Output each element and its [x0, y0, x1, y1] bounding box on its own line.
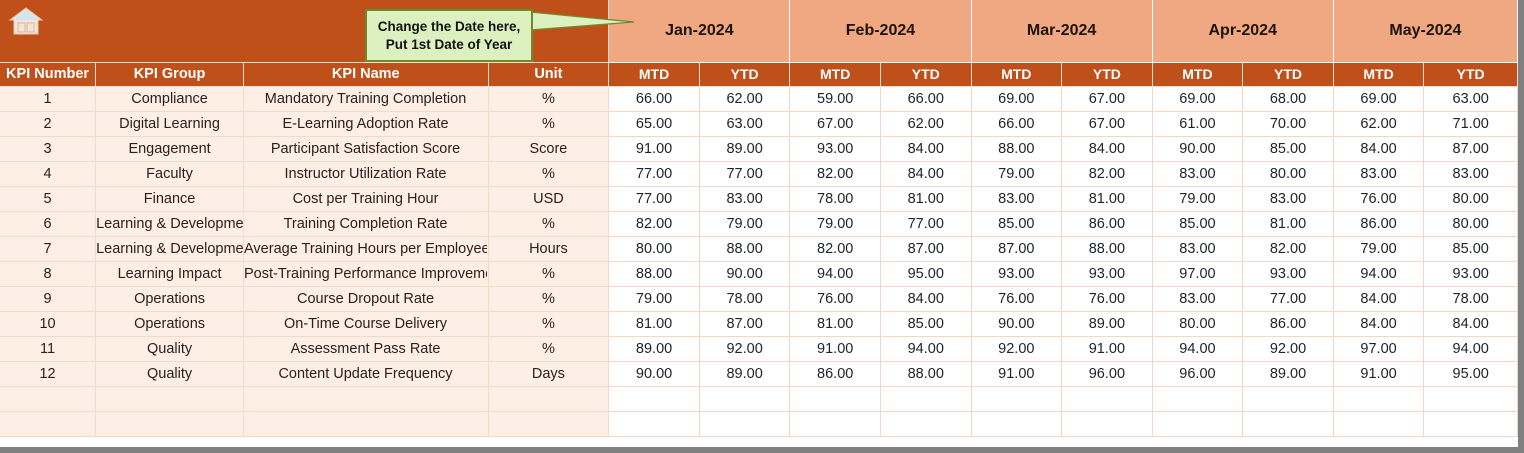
empty-cell[interactable] [488, 386, 609, 411]
cell-unit[interactable]: % [488, 86, 609, 111]
cell-kpi-group[interactable]: Compliance [96, 86, 244, 111]
cell-apr-mtd[interactable]: 97.00 [1152, 261, 1243, 286]
cell-jan-ytd[interactable]: 63.00 [699, 111, 790, 136]
cell-unit[interactable]: % [488, 336, 609, 361]
cell-jan-mtd[interactable]: 77.00 [609, 186, 700, 211]
cell-unit[interactable]: % [488, 261, 609, 286]
cell-feb-ytd[interactable]: 62.00 [880, 111, 971, 136]
cell-mar-ytd[interactable]: 86.00 [1062, 211, 1153, 236]
cell-jan-ytd[interactable]: 77.00 [699, 161, 790, 186]
cell-mar-ytd[interactable]: 67.00 [1062, 86, 1153, 111]
cell-feb-ytd[interactable]: 84.00 [880, 161, 971, 186]
empty-cell[interactable] [699, 411, 790, 436]
cell-text: Participant Satisfaction Score [244, 141, 487, 157]
cell-apr-ytd[interactable]: 89.00 [1243, 361, 1334, 386]
cell-feb-ytd[interactable]: 84.00 [880, 286, 971, 311]
cell-apr-mtd[interactable]: 96.00 [1152, 361, 1243, 386]
cell-mar-mtd[interactable]: 66.00 [971, 111, 1062, 136]
empty-cell[interactable] [880, 386, 971, 411]
cell-kpi-number[interactable]: 9 [0, 286, 96, 311]
cell-kpi-name[interactable]: Cost per Training Hour [244, 186, 489, 211]
cell-apr-mtd[interactable]: 79.00 [1152, 186, 1243, 211]
cell-feb-mtd[interactable]: 76.00 [790, 286, 881, 311]
cell-apr-ytd[interactable]: 80.00 [1243, 161, 1334, 186]
cell-feb-mtd[interactable]: 94.00 [790, 261, 881, 286]
cell-may-mtd[interactable]: 84.00 [1333, 311, 1424, 336]
cell-may-mtd[interactable]: 76.00 [1333, 186, 1424, 211]
cell-jan-ytd[interactable]: 83.00 [699, 186, 790, 211]
month-header-may[interactable]: May-2024 [1333, 0, 1517, 62]
cell-kpi-group[interactable]: Engagement [96, 136, 244, 161]
cell-feb-ytd[interactable]: 95.00 [880, 261, 971, 286]
cell-unit[interactable]: % [488, 161, 609, 186]
month-header-jan[interactable]: Jan-2024 [609, 0, 790, 62]
empty-cell[interactable] [971, 411, 1062, 436]
empty-cell[interactable] [1062, 386, 1153, 411]
cell-may-ytd[interactable]: 63.00 [1424, 86, 1518, 111]
table-row: 3EngagementParticipant Satisfaction Scor… [0, 136, 1518, 161]
empty-cell[interactable] [1333, 386, 1424, 411]
cell-may-mtd[interactable]: 79.00 [1333, 236, 1424, 261]
cell-jan-mtd[interactable]: 82.00 [609, 211, 700, 236]
cell-jan-ytd[interactable]: 89.00 [699, 361, 790, 386]
kpi-table: Jan-2024 Feb-2024 Mar-2024 Apr-2024 May-… [0, 0, 1518, 437]
cell-kpi-number[interactable]: 1 [0, 86, 96, 111]
cell-kpi-group[interactable]: Learning & Development [96, 236, 244, 261]
empty-cell[interactable] [1243, 411, 1334, 436]
cell-text: E-Learning Adoption Rate [244, 116, 487, 132]
table-row: 8Learning ImpactPost-Training Performanc… [0, 261, 1518, 286]
cell-kpi-name[interactable]: Mandatory Training Completion [244, 86, 489, 111]
empty-cell[interactable] [699, 386, 790, 411]
cell-mar-mtd[interactable]: 76.00 [971, 286, 1062, 311]
empty-cell[interactable] [609, 411, 700, 436]
cell-jan-ytd[interactable]: 87.00 [699, 311, 790, 336]
empty-cell[interactable] [0, 411, 96, 436]
cell-apr-ytd[interactable]: 93.00 [1243, 261, 1334, 286]
cell-text: On-Time Course Delivery [244, 316, 487, 332]
empty-cell[interactable] [96, 411, 244, 436]
cell-mar-mtd[interactable]: 69.00 [971, 86, 1062, 111]
cell-jan-ytd[interactable]: 90.00 [699, 261, 790, 286]
cell-may-ytd[interactable]: 93.00 [1424, 261, 1518, 286]
col-header-unit[interactable]: Unit [488, 62, 609, 86]
cell-may-mtd[interactable]: 86.00 [1333, 211, 1424, 236]
cell-feb-ytd[interactable]: 85.00 [880, 311, 971, 336]
table-row: 11QualityAssessment Pass Rate%89.0092.00… [0, 336, 1518, 361]
cell-jan-ytd[interactable]: 88.00 [699, 236, 790, 261]
cell-may-ytd[interactable]: 95.00 [1424, 361, 1518, 386]
empty-cell[interactable] [880, 411, 971, 436]
month-header-mar[interactable]: Mar-2024 [971, 0, 1152, 62]
cell-apr-mtd[interactable]: 90.00 [1152, 136, 1243, 161]
empty-cell[interactable] [1333, 411, 1424, 436]
cell-kpi-group[interactable]: Learning Impact [96, 261, 244, 286]
cell-mar-ytd[interactable]: 67.00 [1062, 111, 1153, 136]
cell-mar-ytd[interactable]: 91.00 [1062, 336, 1153, 361]
cell-feb-ytd[interactable]: 66.00 [880, 86, 971, 111]
cell-jan-mtd[interactable]: 66.00 [609, 86, 700, 111]
cell-mar-mtd[interactable]: 90.00 [971, 311, 1062, 336]
cell-may-ytd[interactable]: 94.00 [1424, 336, 1518, 361]
cell-text: Cost per Training Hour [244, 191, 487, 207]
cell-kpi-number[interactable]: 12 [0, 361, 96, 386]
cell-mar-ytd[interactable]: 96.00 [1062, 361, 1153, 386]
cell-apr-ytd[interactable]: 83.00 [1243, 186, 1334, 211]
cell-unit[interactable]: Hours [488, 236, 609, 261]
cell-kpi-group[interactable]: Digital Learning [96, 111, 244, 136]
cell-feb-ytd[interactable]: 94.00 [880, 336, 971, 361]
cell-kpi-number[interactable]: 5 [0, 186, 96, 211]
empty-cell[interactable] [1152, 386, 1243, 411]
callout-line-1: Change the Date here, [367, 18, 531, 36]
empty-cell[interactable] [790, 386, 881, 411]
cell-kpi-group[interactable]: Operations [96, 286, 244, 311]
cell-feb-mtd[interactable]: 86.00 [790, 361, 881, 386]
cell-jan-mtd[interactable]: 91.00 [609, 136, 700, 161]
empty-row [0, 411, 1518, 436]
cell-mar-mtd[interactable]: 85.00 [971, 211, 1062, 236]
cell-mar-mtd[interactable]: 92.00 [971, 336, 1062, 361]
month-header-apr[interactable]: Apr-2024 [1152, 0, 1333, 62]
date-instruction-callout: Change the Date here, Put 1st Date of Ye… [365, 9, 533, 62]
cell-kpi-name[interactable]: E-Learning Adoption Rate [244, 111, 489, 136]
column-header-row: KPI Number KPI Group KPI Name Unit MTD Y… [0, 62, 1518, 86]
cell-text: Training Completion Rate [244, 216, 487, 232]
empty-cell[interactable] [971, 386, 1062, 411]
cell-kpi-group[interactable]: Faculty [96, 161, 244, 186]
cell-jan-mtd[interactable]: 80.00 [609, 236, 700, 261]
table-row: 7Learning & DevelopmentAverage Training … [0, 236, 1518, 261]
empty-cell[interactable] [488, 411, 609, 436]
home-icon[interactable] [8, 5, 44, 37]
month-header-feb[interactable]: Feb-2024 [790, 0, 971, 62]
cell-mar-ytd[interactable]: 89.00 [1062, 311, 1153, 336]
cell-mar-ytd[interactable]: 88.00 [1062, 236, 1153, 261]
cell-kpi-group[interactable]: Finance [96, 186, 244, 211]
cell-jan-ytd[interactable]: 78.00 [699, 286, 790, 311]
cell-feb-mtd[interactable]: 81.00 [790, 311, 881, 336]
col-header-jan-ytd[interactable]: YTD [699, 62, 790, 86]
cell-feb-ytd[interactable]: 87.00 [880, 236, 971, 261]
cell-mar-ytd[interactable]: 93.00 [1062, 261, 1153, 286]
table-row: 12QualityContent Update FrequencyDays90.… [0, 361, 1518, 386]
cell-mar-ytd[interactable]: 81.00 [1062, 186, 1153, 211]
cell-mar-mtd[interactable]: 87.00 [971, 236, 1062, 261]
cell-kpi-number[interactable]: 11 [0, 336, 96, 361]
cell-mar-ytd[interactable]: 84.00 [1062, 136, 1153, 161]
cell-kpi-number[interactable]: 10 [0, 311, 96, 336]
cell-feb-mtd[interactable]: 93.00 [790, 136, 881, 161]
cell-may-mtd[interactable]: 69.00 [1333, 86, 1424, 111]
cell-unit[interactable]: USD [488, 186, 609, 211]
cell-mar-mtd[interactable]: 88.00 [971, 136, 1062, 161]
cell-apr-mtd[interactable]: 83.00 [1152, 236, 1243, 261]
empty-cell[interactable] [1424, 411, 1518, 436]
cell-unit[interactable]: % [488, 111, 609, 136]
cell-feb-mtd[interactable]: 79.00 [790, 211, 881, 236]
cell-jan-ytd[interactable]: 89.00 [699, 136, 790, 161]
cell-kpi-group[interactable]: Learning & Development [96, 211, 244, 236]
table-row: 9OperationsCourse Dropout Rate%79.0078.0… [0, 286, 1518, 311]
cell-apr-mtd[interactable]: 85.00 [1152, 211, 1243, 236]
col-header-apr-ytd[interactable]: YTD [1243, 62, 1334, 86]
col-header-kpi-number[interactable]: KPI Number [0, 62, 96, 86]
empty-row [0, 386, 1518, 411]
cell-may-ytd[interactable]: 80.00 [1424, 186, 1518, 211]
cell-may-ytd[interactable]: 78.00 [1424, 286, 1518, 311]
cell-apr-mtd[interactable]: 94.00 [1152, 336, 1243, 361]
cell-text: Mandatory Training Completion [244, 91, 487, 107]
cell-apr-mtd[interactable]: 80.00 [1152, 311, 1243, 336]
cell-apr-mtd[interactable]: 83.00 [1152, 286, 1243, 311]
cell-may-ytd[interactable]: 83.00 [1424, 161, 1518, 186]
cell-apr-ytd[interactable]: 86.00 [1243, 311, 1334, 336]
cell-unit[interactable]: Days [488, 361, 609, 386]
cell-kpi-name[interactable]: Assessment Pass Rate [244, 336, 489, 361]
cell-jan-mtd[interactable]: 79.00 [609, 286, 700, 311]
col-header-mar-mtd[interactable]: MTD [971, 62, 1062, 86]
table-row: 5FinanceCost per Training HourUSD77.0083… [0, 186, 1518, 211]
col-header-kpi-name[interactable]: KPI Name [244, 62, 489, 86]
table-row: 6Learning & DevelopmentTraining Completi… [0, 211, 1518, 236]
cell-may-ytd[interactable]: 87.00 [1424, 136, 1518, 161]
cell-jan-mtd[interactable]: 90.00 [609, 361, 700, 386]
cell-apr-ytd[interactable]: 68.00 [1243, 86, 1334, 111]
empty-cell[interactable] [96, 386, 244, 411]
cell-may-ytd[interactable]: 71.00 [1424, 111, 1518, 136]
cell-apr-mtd[interactable]: 61.00 [1152, 111, 1243, 136]
empty-cell[interactable] [790, 411, 881, 436]
cell-mar-mtd[interactable]: 93.00 [971, 261, 1062, 286]
cell-mar-mtd[interactable]: 91.00 [971, 361, 1062, 386]
kpi-table-body: 1ComplianceMandatory Training Completion… [0, 86, 1518, 436]
cell-feb-mtd[interactable]: 82.00 [790, 236, 881, 261]
cell-jan-mtd[interactable]: 81.00 [609, 311, 700, 336]
cell-mar-ytd[interactable]: 82.00 [1062, 161, 1153, 186]
empty-cell[interactable] [244, 386, 489, 411]
cell-jan-ytd[interactable]: 79.00 [699, 211, 790, 236]
cell-apr-ytd[interactable]: 70.00 [1243, 111, 1334, 136]
cell-apr-ytd[interactable]: 81.00 [1243, 211, 1334, 236]
cell-may-mtd[interactable]: 83.00 [1333, 161, 1424, 186]
cell-unit[interactable]: % [488, 211, 609, 236]
cell-may-ytd[interactable]: 84.00 [1424, 311, 1518, 336]
cell-feb-ytd[interactable]: 88.00 [880, 361, 971, 386]
cell-feb-ytd[interactable]: 81.00 [880, 186, 971, 211]
cell-kpi-number[interactable]: 8 [0, 261, 96, 286]
cell-apr-ytd[interactable]: 77.00 [1243, 286, 1334, 311]
cell-mar-mtd[interactable]: 79.00 [971, 161, 1062, 186]
col-header-may-ytd[interactable]: YTD [1424, 62, 1518, 86]
cell-kpi-number[interactable]: 3 [0, 136, 96, 161]
cell-apr-ytd[interactable]: 85.00 [1243, 136, 1334, 161]
cell-unit[interactable]: % [488, 286, 609, 311]
col-header-apr-mtd[interactable]: MTD [1152, 62, 1243, 86]
cell-kpi-number[interactable]: 4 [0, 161, 96, 186]
cell-kpi-name[interactable]: Training Completion Rate [244, 211, 489, 236]
cell-feb-mtd[interactable]: 78.00 [790, 186, 881, 211]
cell-mar-mtd[interactable]: 83.00 [971, 186, 1062, 211]
cell-jan-ytd[interactable]: 62.00 [699, 86, 790, 111]
cell-may-mtd[interactable]: 94.00 [1333, 261, 1424, 286]
cell-kpi-name[interactable]: Course Dropout Rate [244, 286, 489, 311]
empty-cell[interactable] [609, 386, 700, 411]
cell-kpi-name[interactable]: Post-Training Performance Improvement [244, 261, 489, 286]
col-header-may-mtd[interactable]: MTD [1333, 62, 1424, 86]
col-header-mar-ytd[interactable]: YTD [1062, 62, 1153, 86]
col-header-feb-ytd[interactable]: YTD [880, 62, 971, 86]
table-row: 1ComplianceMandatory Training Completion… [0, 86, 1518, 111]
cell-feb-mtd[interactable]: 67.00 [790, 111, 881, 136]
col-header-jan-mtd[interactable]: MTD [609, 62, 700, 86]
cell-may-mtd[interactable]: 97.00 [1333, 336, 1424, 361]
cell-kpi-name[interactable]: Content Update Frequency [244, 361, 489, 386]
cell-text: Average Training Hours per Employee [244, 241, 487, 257]
cell-kpi-name[interactable]: Participant Satisfaction Score [244, 136, 489, 161]
cell-jan-mtd[interactable]: 89.00 [609, 336, 700, 361]
empty-cell[interactable] [1152, 411, 1243, 436]
cell-may-mtd[interactable]: 62.00 [1333, 111, 1424, 136]
empty-cell[interactable] [1424, 386, 1518, 411]
cell-jan-mtd[interactable]: 65.00 [609, 111, 700, 136]
empty-cell[interactable] [244, 411, 489, 436]
cell-may-ytd[interactable]: 85.00 [1424, 236, 1518, 261]
cell-feb-ytd[interactable]: 77.00 [880, 211, 971, 236]
cell-kpi-number[interactable]: 6 [0, 211, 96, 236]
cell-jan-mtd[interactable]: 77.00 [609, 161, 700, 186]
cell-apr-mtd[interactable]: 69.00 [1152, 86, 1243, 111]
cell-text: Course Dropout Rate [244, 291, 487, 307]
cell-feb-ytd[interactable]: 84.00 [880, 136, 971, 161]
cell-jan-ytd[interactable]: 92.00 [699, 336, 790, 361]
cell-kpi-name[interactable]: Instructor Utilization Rate [244, 161, 489, 186]
cell-text: Assessment Pass Rate [244, 341, 487, 357]
cell-may-mtd[interactable]: 84.00 [1333, 136, 1424, 161]
table-row: 4FacultyInstructor Utilization Rate%77.0… [0, 161, 1518, 186]
cell-kpi-number[interactable]: 2 [0, 111, 96, 136]
cell-text: Post-Training Performance Improvement [244, 266, 487, 282]
empty-cell[interactable] [1243, 386, 1334, 411]
cell-kpi-number[interactable]: 7 [0, 236, 96, 261]
col-header-kpi-group[interactable]: KPI Group [96, 62, 244, 86]
empty-cell[interactable] [0, 386, 96, 411]
cell-apr-ytd[interactable]: 82.00 [1243, 236, 1334, 261]
empty-cell[interactable] [1062, 411, 1153, 436]
cell-feb-mtd[interactable]: 82.00 [790, 161, 881, 186]
cell-unit[interactable]: % [488, 311, 609, 336]
table-row: 2Digital LearningE-Learning Adoption Rat… [0, 111, 1518, 136]
cell-may-mtd[interactable]: 84.00 [1333, 286, 1424, 311]
cell-text: Content Update Frequency [244, 366, 487, 382]
cell-may-ytd[interactable]: 80.00 [1424, 211, 1518, 236]
cell-kpi-group[interactable]: Operations [96, 311, 244, 336]
table-row: 10OperationsOn-Time Course Delivery%81.0… [0, 311, 1518, 336]
cell-unit[interactable]: Score [488, 136, 609, 161]
cell-feb-mtd[interactable]: 91.00 [790, 336, 881, 361]
cell-jan-mtd[interactable]: 88.00 [609, 261, 700, 286]
cell-feb-mtd[interactable]: 59.00 [790, 86, 881, 111]
cell-kpi-name[interactable]: On-Time Course Delivery [244, 311, 489, 336]
month-header-row: Jan-2024 Feb-2024 Mar-2024 Apr-2024 May-… [0, 0, 1518, 62]
cell-may-mtd[interactable]: 91.00 [1333, 361, 1424, 386]
col-header-feb-mtd[interactable]: MTD [790, 62, 881, 86]
callout-pointer-icon [530, 10, 634, 36]
cell-apr-ytd[interactable]: 92.00 [1243, 336, 1334, 361]
kpi-dashboard-sheet: Change the Date here, Put 1st Date of Ye… [0, 0, 1524, 453]
cell-text: Instructor Utilization Rate [244, 166, 487, 182]
cell-kpi-name[interactable]: Average Training Hours per Employee [244, 236, 489, 261]
cell-mar-ytd[interactable]: 76.00 [1062, 286, 1153, 311]
callout-line-2: Put 1st Date of Year [367, 36, 531, 54]
cell-apr-mtd[interactable]: 83.00 [1152, 161, 1243, 186]
cell-kpi-group[interactable]: Quality [96, 361, 244, 386]
cell-kpi-group[interactable]: Quality [96, 336, 244, 361]
